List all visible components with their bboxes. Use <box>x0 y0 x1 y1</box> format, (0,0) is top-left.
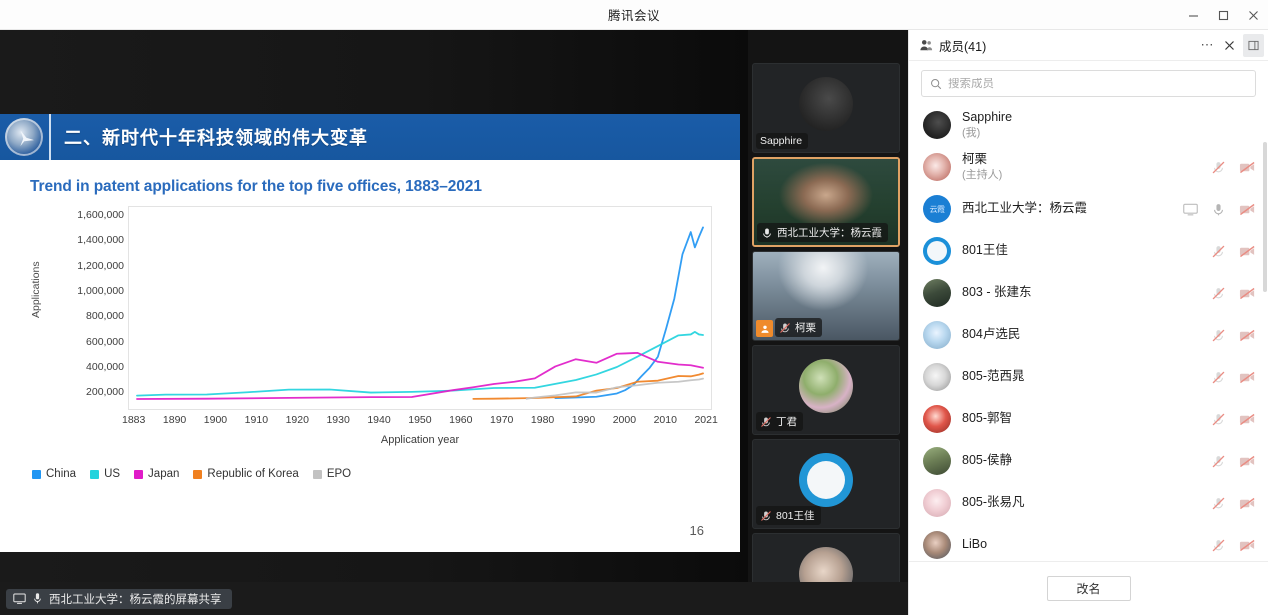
microphone-icon <box>32 592 43 605</box>
maximize-icon[interactable] <box>1208 0 1238 30</box>
chart-x-tick: 1890 <box>163 414 186 426</box>
microphone-muted-icon[interactable] <box>1211 538 1226 553</box>
chart-x-tick: 2021 <box>694 414 717 426</box>
legend-item: EPO <box>313 468 351 480</box>
close-icon[interactable] <box>1238 0 1268 30</box>
avatar <box>923 363 951 391</box>
participant-row[interactable]: LiBo <box>909 524 1268 561</box>
tencent-meeting-window: 腾讯会议 二、新时代十年科技领域的伟大变革 Trend in patent <box>0 0 1268 615</box>
legend-swatch-icon <box>32 470 41 479</box>
avatar <box>799 453 853 507</box>
participant-row[interactable]: 804卢选民 <box>909 314 1268 356</box>
camera-off-icon[interactable] <box>1239 286 1256 301</box>
legend-label: China <box>46 468 76 480</box>
chart-x-tick: 1950 <box>408 414 431 426</box>
participant-actions <box>1211 160 1256 175</box>
legend-label: Japan <box>148 468 179 480</box>
window-title: 腾讯会议 <box>608 5 660 24</box>
avatar <box>923 153 951 181</box>
search-box[interactable] <box>921 70 1256 97</box>
shared-screen-surface[interactable]: 二、新时代十年科技领域的伟大变革 Trend in patent applica… <box>0 30 748 582</box>
chart-line-china <box>555 227 703 398</box>
screen-share-icon[interactable] <box>1183 203 1198 216</box>
participants-count-title: 成员(41) <box>939 36 1196 55</box>
chart-x-tick: 1990 <box>572 414 595 426</box>
chart-legend: ChinaUSJapanRepublic of KoreaEPO <box>32 468 351 480</box>
microphone-muted-icon[interactable] <box>1211 328 1226 343</box>
participant-name: 西北工业大学：杨云霞 <box>962 201 1183 217</box>
chart-y-tick: 1,400,000 <box>46 235 124 246</box>
camera-off-icon[interactable] <box>1239 412 1256 427</box>
screen-share-icon <box>13 592 26 605</box>
tile-name-bar: Sapphire <box>756 133 808 149</box>
microphone-icon[interactable] <box>1211 202 1226 217</box>
microphone-muted-icon[interactable] <box>1211 244 1226 259</box>
chart-y-tick: 1,000,000 <box>46 286 124 297</box>
participant-actions <box>1211 244 1256 259</box>
microphone-muted-icon[interactable] <box>1211 454 1226 469</box>
chart-y-tick: 600,000 <box>46 337 124 348</box>
microphone-muted-icon <box>760 416 772 428</box>
rename-button[interactable]: 改名 <box>1047 576 1131 601</box>
participants-panel-footer: 改名 <box>909 561 1268 615</box>
minimize-icon[interactable] <box>1178 0 1208 30</box>
camera-off-icon[interactable] <box>1239 454 1256 469</box>
tile-name-bar: 柯栗 <box>775 318 822 337</box>
legend-item: US <box>90 468 120 480</box>
participant-name: 805-郭智 <box>962 411 1211 427</box>
avatar <box>923 405 951 433</box>
camera-off-icon[interactable] <box>1239 244 1256 259</box>
chart-x-tick: 2010 <box>654 414 677 426</box>
tile-participant-name: 801王佳 <box>776 508 815 523</box>
legend-label: EPO <box>327 468 351 480</box>
chart-x-tick: 1970 <box>490 414 513 426</box>
participant-name: 805-范西晁 <box>962 369 1211 385</box>
legend-label: Republic of Korea <box>207 468 298 480</box>
video-tile[interactable]: 801王佳 <box>752 439 900 529</box>
participant-role: (我) <box>962 126 1256 140</box>
chart-x-tick: 1960 <box>449 414 472 426</box>
participant-row[interactable]: 803 - 张建东 <box>909 272 1268 314</box>
microphone-icon <box>761 227 773 239</box>
chart-y-tick: 400,000 <box>46 362 124 373</box>
tile-name-bar: 西北工业大学：杨云霞 <box>757 223 888 242</box>
participant-actions <box>1211 412 1256 427</box>
chart-x-tick: 1980 <box>531 414 554 426</box>
screen-share-text: 西北工业大学：杨云霞的屏幕共享 <box>49 591 222 607</box>
participant-name: 柯栗 <box>962 152 1211 168</box>
microphone-muted-icon <box>760 510 772 522</box>
avatar <box>923 279 951 307</box>
participant-name: 805-侯静 <box>962 453 1211 469</box>
participant-actions <box>1211 286 1256 301</box>
participants-panel-header: 成员(41) ⋯ <box>909 30 1268 61</box>
avatar <box>923 321 951 349</box>
tile-participant-name: 柯栗 <box>795 320 816 335</box>
avatar: 云霞 <box>923 195 951 223</box>
participant-name: 803 - 张建东 <box>962 285 1211 301</box>
tile-name-bar: 801王佳 <box>756 506 821 525</box>
tile-participant-name: 丁君 <box>776 414 797 429</box>
participant-row[interactable]: 805-郭智 <box>909 398 1268 440</box>
microphone-muted-icon[interactable] <box>1211 160 1226 175</box>
chart-x-tick: 1900 <box>204 414 227 426</box>
participant-name: Sapphire <box>962 110 1256 126</box>
legend-label: US <box>104 468 120 480</box>
chart-x-tick: 1930 <box>326 414 349 426</box>
avatar <box>923 111 951 139</box>
tile-name-bar: 丁君 <box>756 412 803 431</box>
slide-header-band: 二、新时代十年科技领域的伟大变革 <box>0 114 740 160</box>
legend-swatch-icon <box>90 470 99 479</box>
avatar <box>799 359 853 413</box>
camera-off-icon[interactable] <box>1239 160 1256 175</box>
screen-share-footer: 西北工业大学：杨云霞的屏幕共享 <box>0 582 908 615</box>
microphone-muted-icon[interactable] <box>1211 496 1226 511</box>
chart-plot-area <box>128 206 712 410</box>
participant-name-block: 西北工业大学：杨云霞 <box>962 201 1183 217</box>
panel-close-button[interactable] <box>1218 34 1240 56</box>
chart-y-tick: 800,000 <box>46 311 124 322</box>
chart-x-tick: 1883 <box>122 414 145 426</box>
camera-off-icon[interactable] <box>1239 202 1256 217</box>
participant-row[interactable]: Sapphire(我) <box>909 104 1268 146</box>
participant-name-block: 803 - 张建东 <box>962 285 1211 301</box>
chart-y-axis-label: Applications <box>30 261 42 318</box>
band-divider <box>49 114 51 160</box>
avatar <box>923 489 951 517</box>
slide-section-title: 二、新时代十年科技领域的伟大变革 <box>64 124 368 150</box>
participant-name-block: 805-侯静 <box>962 453 1211 469</box>
participant-row[interactable]: 801王佳 <box>909 230 1268 272</box>
avatar <box>923 531 951 559</box>
chart-y-ticks: 1,600,0001,400,0001,200,0001,000,000800,… <box>46 210 124 398</box>
participant-name: 801王佳 <box>962 243 1211 259</box>
chart-x-tick: 1910 <box>245 414 268 426</box>
microphone-muted-icon[interactable] <box>1211 370 1226 385</box>
chart-line-us <box>137 332 703 396</box>
participant-row[interactable]: 805-范西晁 <box>909 356 1268 398</box>
patent-trend-chart: Applications 1,600,0001,400,0001,200,000… <box>22 206 722 506</box>
legend-item: Japan <box>134 468 179 480</box>
search-input[interactable] <box>948 78 1247 90</box>
slide-page-number: 16 <box>690 523 704 538</box>
avatar <box>799 77 853 131</box>
participant-row[interactable]: 805-张易凡 <box>909 482 1268 524</box>
search-icon <box>930 78 942 90</box>
chart-y-tick: 200,000 <box>46 387 124 398</box>
people-icon <box>919 38 933 52</box>
avatar <box>923 237 951 265</box>
participant-name: 804卢选民 <box>962 327 1211 343</box>
participant-name: LiBo <box>962 537 1211 553</box>
participant-name-block: 804卢选民 <box>962 327 1211 343</box>
university-emblem-icon <box>5 118 43 156</box>
camera-off-icon[interactable] <box>1239 370 1256 385</box>
participant-actions <box>1211 496 1256 511</box>
chart-x-ticks: 1883189019001910192019301940195019601970… <box>122 414 718 426</box>
chart-x-tick: 1920 <box>286 414 309 426</box>
participant-row[interactable]: 柯栗(主持人) <box>909 146 1268 188</box>
participant-actions <box>1183 202 1256 217</box>
video-thumbnail-strip: Sapphire西北工业大学：杨云霞柯栗丁君801王佳LiBo <box>752 63 902 615</box>
presentation-slide: 二、新时代十年科技领域的伟大变革 Trend in patent applica… <box>0 114 740 552</box>
panel-layout-icon[interactable] <box>1243 34 1264 57</box>
meeting-stage: 二、新时代十年科技领域的伟大变革 Trend in patent applica… <box>0 30 908 615</box>
participant-actions <box>1211 370 1256 385</box>
tile-participant-name: Sapphire <box>760 135 802 147</box>
chart-y-tick: 1,200,000 <box>46 261 124 272</box>
participant-actions <box>1211 538 1256 553</box>
window-controls <box>1178 0 1268 30</box>
title-bar: 腾讯会议 <box>0 0 1268 30</box>
avatar <box>923 447 951 475</box>
participant-row[interactable]: 805-侯静 <box>909 440 1268 482</box>
participant-name-block: 805-张易凡 <box>962 495 1211 511</box>
panel-scrollbar[interactable] <box>1263 142 1267 292</box>
participant-role: (主持人) <box>962 168 1211 182</box>
participant-name: 805-张易凡 <box>962 495 1211 511</box>
chart-title: Trend in patent applications for the top… <box>30 178 482 196</box>
tile-participant-name: 西北工业大学：杨云霞 <box>777 225 882 240</box>
screen-share-indicator[interactable]: 西北工业大学：杨云霞的屏幕共享 <box>6 589 232 609</box>
panel-more-button[interactable]: ⋯ <box>1196 34 1218 56</box>
participant-name-block: Sapphire(我) <box>962 110 1256 141</box>
participant-name-block: LiBo <box>962 537 1211 553</box>
participants-search-row <box>909 61 1268 104</box>
participants-list[interactable]: Sapphire(我)柯栗(主持人)云霞西北工业大学：杨云霞801王佳803 -… <box>909 104 1268 561</box>
participants-panel: 成员(41) ⋯ Sapphire(我)柯栗(主持人)云霞西北工业大学：杨云霞8… <box>908 30 1268 615</box>
microphone-muted-icon <box>779 322 791 334</box>
chart-x-axis-label: Application year <box>128 434 712 446</box>
camera-off-icon[interactable] <box>1239 496 1256 511</box>
video-tile[interactable]: 丁君 <box>752 345 900 435</box>
chart-y-tick: 1,600,000 <box>46 210 124 221</box>
chart-x-tick: 1940 <box>367 414 390 426</box>
participant-name-block: 801王佳 <box>962 243 1211 259</box>
video-tile[interactable]: 柯栗 <box>752 251 900 341</box>
microphone-muted-icon[interactable] <box>1211 412 1226 427</box>
participant-name-block: 柯栗(主持人) <box>962 152 1211 183</box>
participant-actions <box>1211 454 1256 469</box>
camera-off-icon[interactable] <box>1239 538 1256 553</box>
chart-x-tick: 2000 <box>613 414 636 426</box>
legend-swatch-icon <box>134 470 143 479</box>
participant-name-block: 805-范西晁 <box>962 369 1211 385</box>
legend-swatch-icon <box>313 470 322 479</box>
video-tile[interactable]: Sapphire <box>752 63 900 153</box>
legend-swatch-icon <box>193 470 202 479</box>
participant-name-block: 805-郭智 <box>962 411 1211 427</box>
microphone-muted-icon[interactable] <box>1211 286 1226 301</box>
legend-item: China <box>32 468 76 480</box>
participant-actions <box>1211 328 1256 343</box>
participant-row[interactable]: 云霞西北工业大学：杨云霞 <box>909 188 1268 230</box>
host-badge-icon <box>756 320 773 337</box>
video-tile[interactable]: 西北工业大学：杨云霞 <box>752 157 900 247</box>
camera-off-icon[interactable] <box>1239 328 1256 343</box>
legend-item: Republic of Korea <box>193 468 298 480</box>
